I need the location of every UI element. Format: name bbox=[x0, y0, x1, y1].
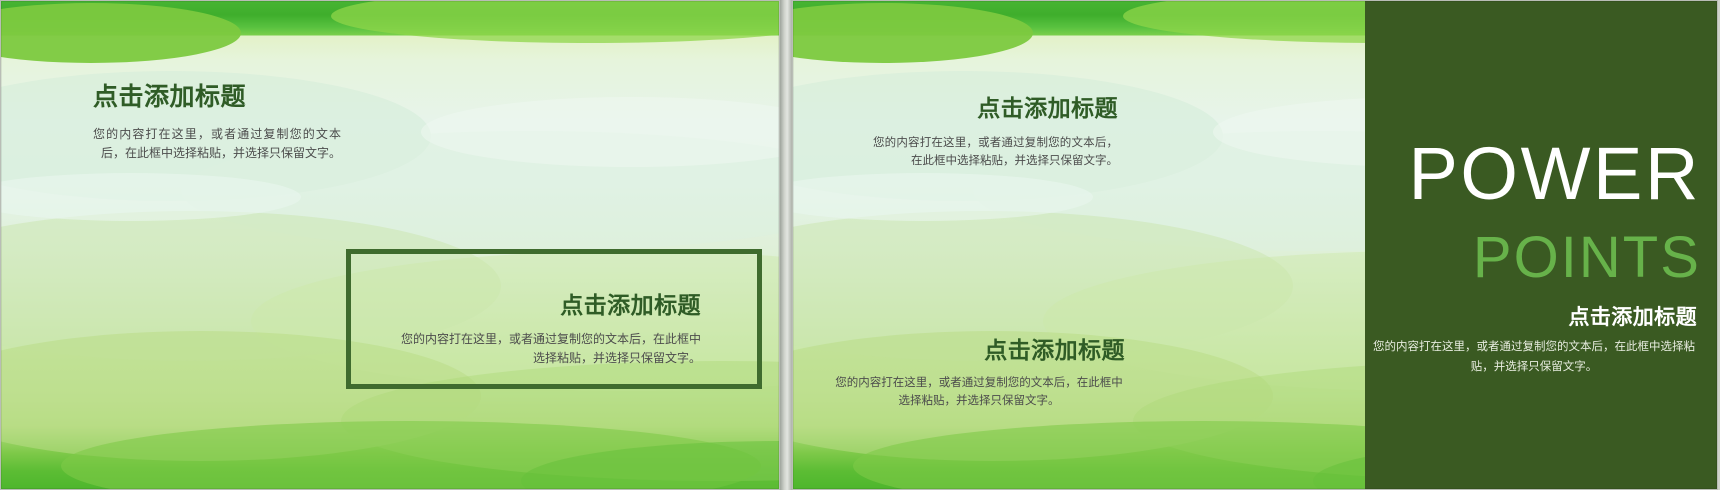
block-title: 点击添加标题 bbox=[873, 89, 1118, 123]
slide-background bbox=[1, 1, 779, 489]
background-blob bbox=[0, 3, 241, 63]
panel-body: 您的内容打在这里，或者通过复制您的文本后，在此框中选择粘贴，并选择只保留文字。 bbox=[1369, 337, 1699, 376]
text-block-bottom-left[interactable]: 点击添加标题 您的内容打在这里，或者通过复制您的文本后，在此框中选择粘贴，并选择… bbox=[833, 331, 1125, 410]
slide-right[interactable]: 点击添加标题 您的内容打在这里，或者通过复制您的文本后，在此框中选择粘贴，并选择… bbox=[792, 0, 1718, 490]
panel-title: 点击添加标题 bbox=[1568, 301, 1697, 331]
slide-deck: 点击添加标题 您的内容打在这里，或者通过复制您的文本后，在此框中选择粘贴，并选择… bbox=[0, 0, 1720, 490]
text-block-top-left[interactable]: 点击添加标题 您的内容打在这里，或者通过复制您的文本后，在此框中选择粘贴，并选择… bbox=[873, 89, 1118, 170]
text-block-framed[interactable]: 点击添加标题 您的内容打在这里，或者通过复制您的文本后，在此框中选择粘贴，并选择… bbox=[401, 286, 701, 367]
slide-divider bbox=[780, 0, 792, 490]
background-blob bbox=[792, 3, 1033, 63]
background-blob bbox=[331, 0, 780, 43]
block-title: 点击添加标题 bbox=[833, 331, 1125, 365]
block-body: 您的内容打在这里，或者通过复制您的文本后，在此框中选择粘贴，并选择只保留文字。 bbox=[873, 134, 1118, 170]
text-block-top-left[interactable]: 点击添加标题 您的内容打在这里，或者通过复制您的文本后，在此框中选择粘贴，并选择… bbox=[93, 77, 341, 162]
wordmark-points: POINTS bbox=[1473, 229, 1701, 287]
block-body: 您的内容打在这里，或者通过复制您的文本后，在此框中选择粘贴，并选择只保留文字。 bbox=[833, 374, 1125, 410]
slide-left[interactable]: 点击添加标题 您的内容打在这里，或者通过复制您的文本后，在此框中选择粘贴，并选择… bbox=[0, 0, 780, 490]
wordmark-power: POWER bbox=[1408, 137, 1701, 211]
block-body: 您的内容打在这里，或者通过复制您的文本后，在此框中选择粘贴，并选择只保留文字。 bbox=[401, 330, 701, 367]
block-body: 您的内容打在这里，或者通过复制您的文本后，在此框中选择粘贴，并选择只保留文字。 bbox=[93, 125, 341, 162]
block-title: 点击添加标题 bbox=[93, 77, 341, 113]
block-title: 点击添加标题 bbox=[401, 286, 701, 320]
